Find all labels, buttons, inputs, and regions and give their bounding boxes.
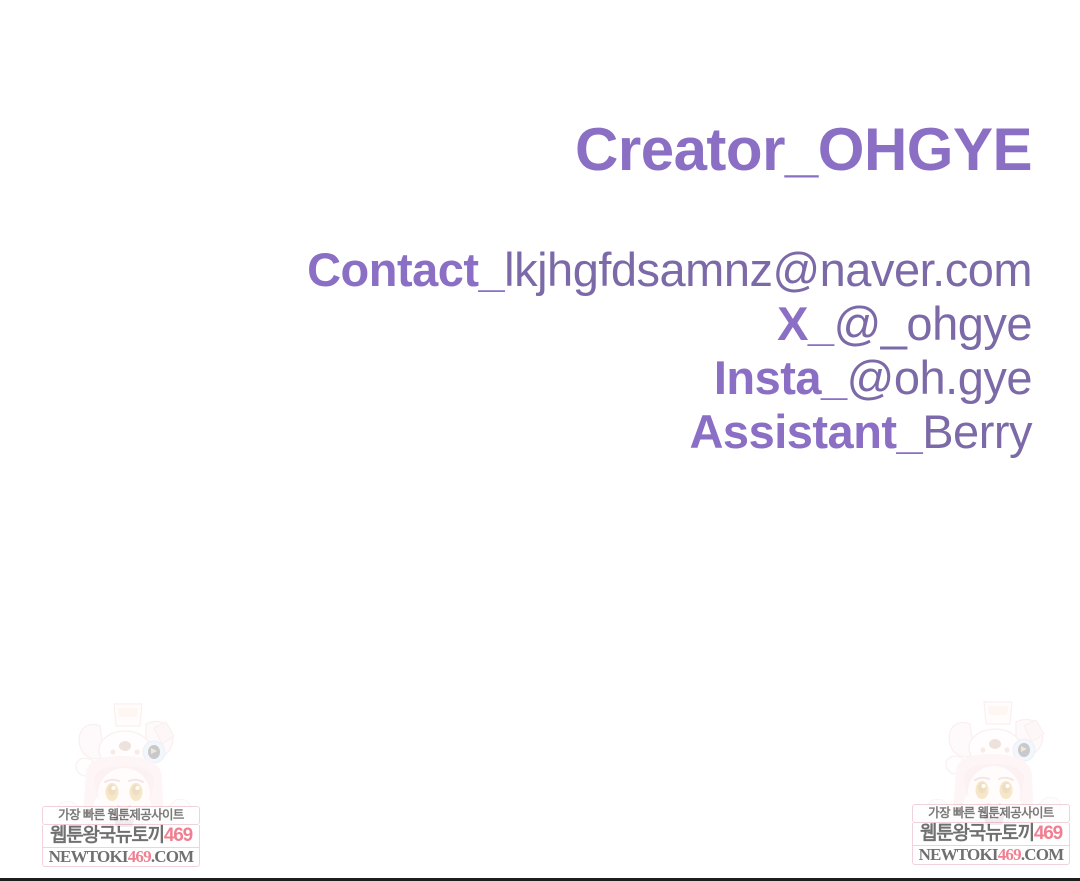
watermark-url-prefix: NEWTOKI [919, 845, 998, 864]
credit-value-insta: @oh.gye [847, 351, 1032, 404]
watermark-url-suffix: .COM [151, 847, 194, 866]
credit-line-insta: Insta_@oh.gye [0, 351, 1032, 405]
watermark-tagline: 가장 빠른 웹툰제공사이트 [912, 804, 1070, 824]
credit-line-contact: Contact_lkjhgfdsamnz@naver.com [0, 243, 1032, 297]
credit-value-contact: lkjhgfdsamnz@naver.com [504, 243, 1032, 296]
watermark-site-name-text: 웹툰왕국뉴토끼 [920, 823, 1034, 844]
watermark-site-url: NEWTOKI469.COM [912, 846, 1070, 865]
watermark-url-prefix: NEWTOKI [49, 847, 128, 866]
credit-label-contact: Contact_ [307, 243, 504, 296]
watermark-url-suffix: .COM [1021, 845, 1064, 864]
watermark-url-number: 469 [998, 845, 1021, 864]
credits-page: Creator_OHGYE Contact_lkjhgfdsamnz@naver… [0, 0, 1080, 881]
watermark-site-name: 웹툰왕국뉴토끼469 [912, 823, 1070, 846]
watermark-site-name-number: 469 [164, 825, 192, 846]
watermark-site-name: 웹툰왕국뉴토끼469 [42, 825, 200, 848]
credit-label-insta: Insta_ [714, 351, 847, 404]
page-title: Creator_OHGYE [0, 118, 1032, 182]
watermark-tagline: 가장 빠른 웹툰제공사이트 [42, 806, 200, 826]
watermark-bottom-right: 가장 빠른 웹툰제공사이트 웹툰왕국뉴토끼469 NEWTOKI469.COM [912, 700, 1072, 865]
credit-value-assistant: Berry [922, 405, 1032, 458]
credit-label-assistant: Assistant_ [689, 405, 922, 458]
watermark-badge: 가장 빠른 웹툰제공사이트 웹툰왕국뉴토끼469 NEWTOKI469.COM [912, 804, 1070, 866]
watermark-site-url: NEWTOKI469.COM [42, 848, 200, 867]
watermark-bottom-left: 가장 빠른 웹툰제공사이트 웹툰왕국뉴토끼469 NEWTOKI469.COM [42, 702, 202, 867]
credit-label-x: X_ [777, 297, 834, 350]
credit-value-x: @_ohgye [834, 297, 1032, 350]
credit-line-x: X_@_ohgye [0, 297, 1032, 351]
credit-line-assistant: Assistant_Berry [0, 405, 1032, 459]
watermark-site-name-text: 웹툰왕국뉴토끼 [50, 825, 164, 846]
watermark-site-name-number: 469 [1034, 823, 1062, 844]
credit-line-list: Contact_lkjhgfdsamnz@naver.com X_@_ohgye… [0, 243, 1032, 459]
watermark-badge: 가장 빠른 웹툰제공사이트 웹툰왕국뉴토끼469 NEWTOKI469.COM [42, 806, 200, 868]
watermark-url-number: 469 [128, 847, 151, 866]
